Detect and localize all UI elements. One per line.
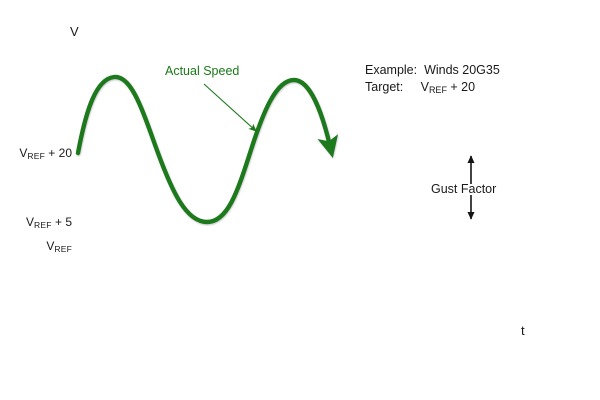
target-value-suffix: + 20: [447, 80, 475, 94]
example-key: Example:: [365, 63, 417, 77]
target-value-main: V: [421, 80, 429, 94]
diagram-canvas: V t VREF + 20 VREF + 5 VREF Actual Speed…: [0, 0, 600, 400]
target-key: Target:: [365, 80, 403, 94]
level-label-vref-plus-20: VREF + 20: [0, 147, 72, 159]
level-label-vref-plus-5: VREF + 5: [0, 216, 72, 228]
actual-speed-pointer-arrow: [204, 84, 256, 131]
level-label-vref-plus-20-sub: REF: [27, 151, 45, 161]
target-value-sub: REF: [429, 85, 447, 95]
level-label-vref-plus-5-main: V: [26, 215, 34, 229]
y-axis-label: V: [70, 25, 79, 38]
level-label-vref-plus-5-suffix: + 5: [52, 215, 72, 229]
gust-factor-label: Gust Factor: [431, 183, 496, 196]
level-label-vref: VREF: [0, 240, 72, 252]
example-line-winds: Example: Winds 20G35: [365, 64, 500, 77]
level-label-vref-plus-20-suffix: + 20: [45, 146, 72, 160]
level-label-vref-plus-5-sub: REF: [34, 220, 52, 230]
actual-speed-curve: [78, 77, 330, 222]
actual-speed-label: Actual Speed: [165, 65, 239, 78]
x-axis-label: t: [521, 324, 525, 337]
example-block: Example: Winds 20G35 Target: VREF + 20: [365, 64, 500, 97]
example-value: Winds 20G35: [424, 63, 500, 77]
diagram-graphic: [0, 0, 600, 400]
example-line-target: Target: VREF + 20: [365, 81, 500, 94]
level-label-vref-sub: REF: [54, 244, 72, 254]
